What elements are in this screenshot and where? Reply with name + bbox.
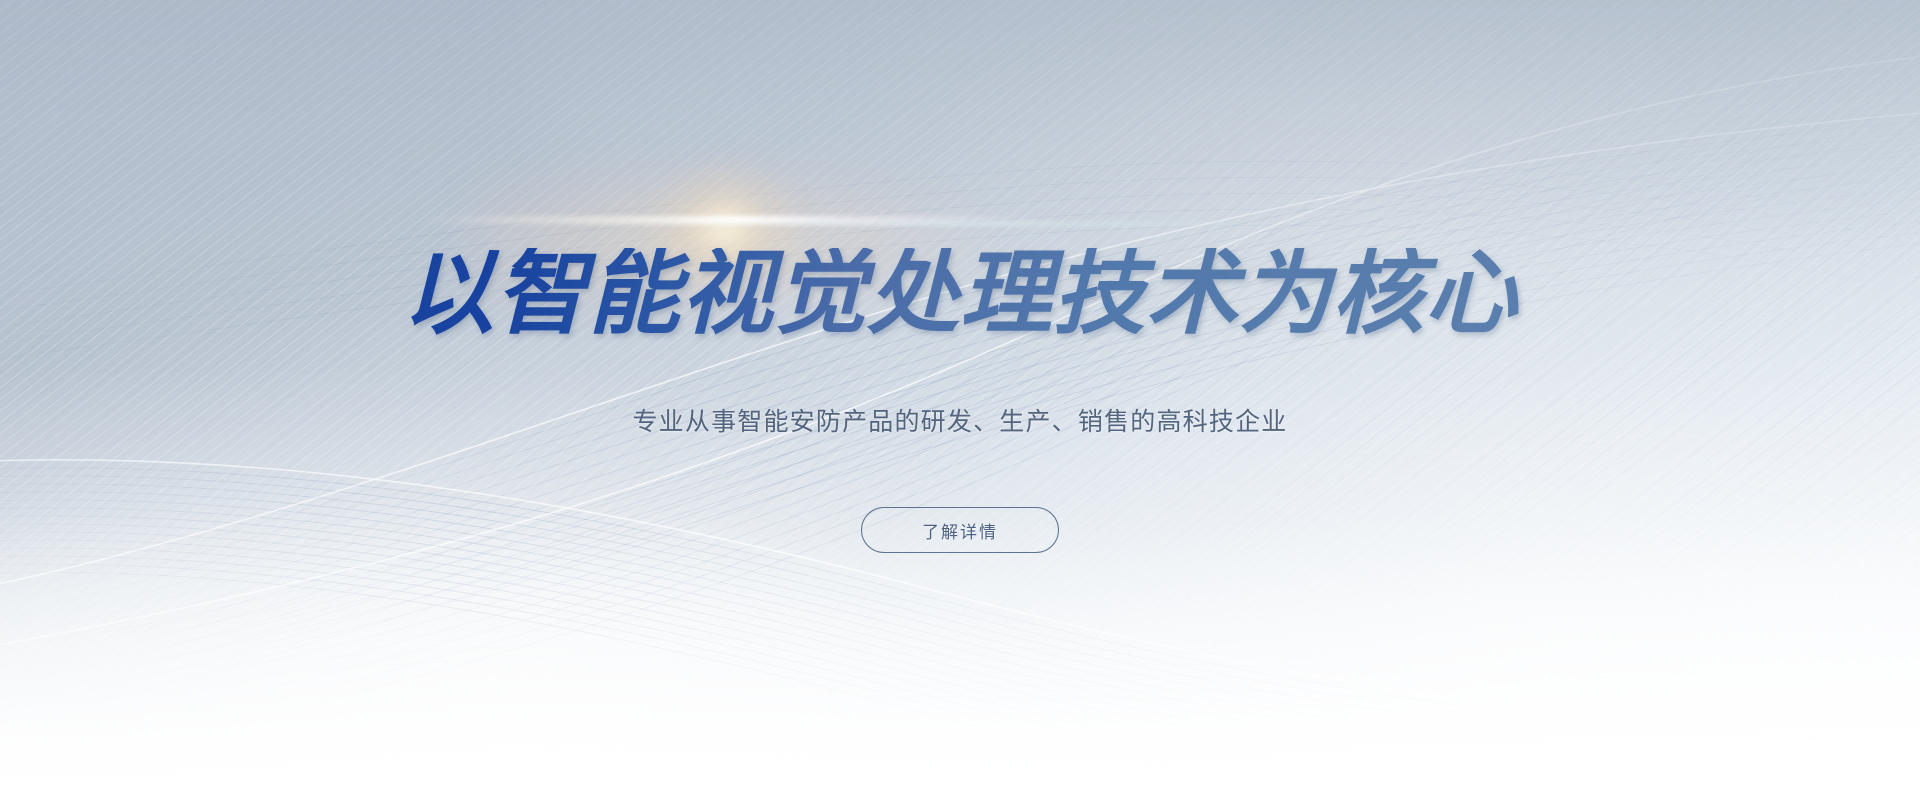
hero-headline: 以智能视觉处理技术为核心 <box>0 248 1920 340</box>
hero-cta-container: 了解详情 <box>0 507 1920 553</box>
learn-more-button[interactable]: 了解详情 <box>861 507 1059 553</box>
hero-banner: 以智能视觉处理技术为核心 专业从事智能安防产品的研发、生产、销售的高科技企业 了… <box>0 0 1920 800</box>
hero-content: 以智能视觉处理技术为核心 专业从事智能安防产品的研发、生产、销售的高科技企业 了… <box>0 0 1920 800</box>
hero-subtitle: 专业从事智能安防产品的研发、生产、销售的高科技企业 <box>0 405 1920 440</box>
